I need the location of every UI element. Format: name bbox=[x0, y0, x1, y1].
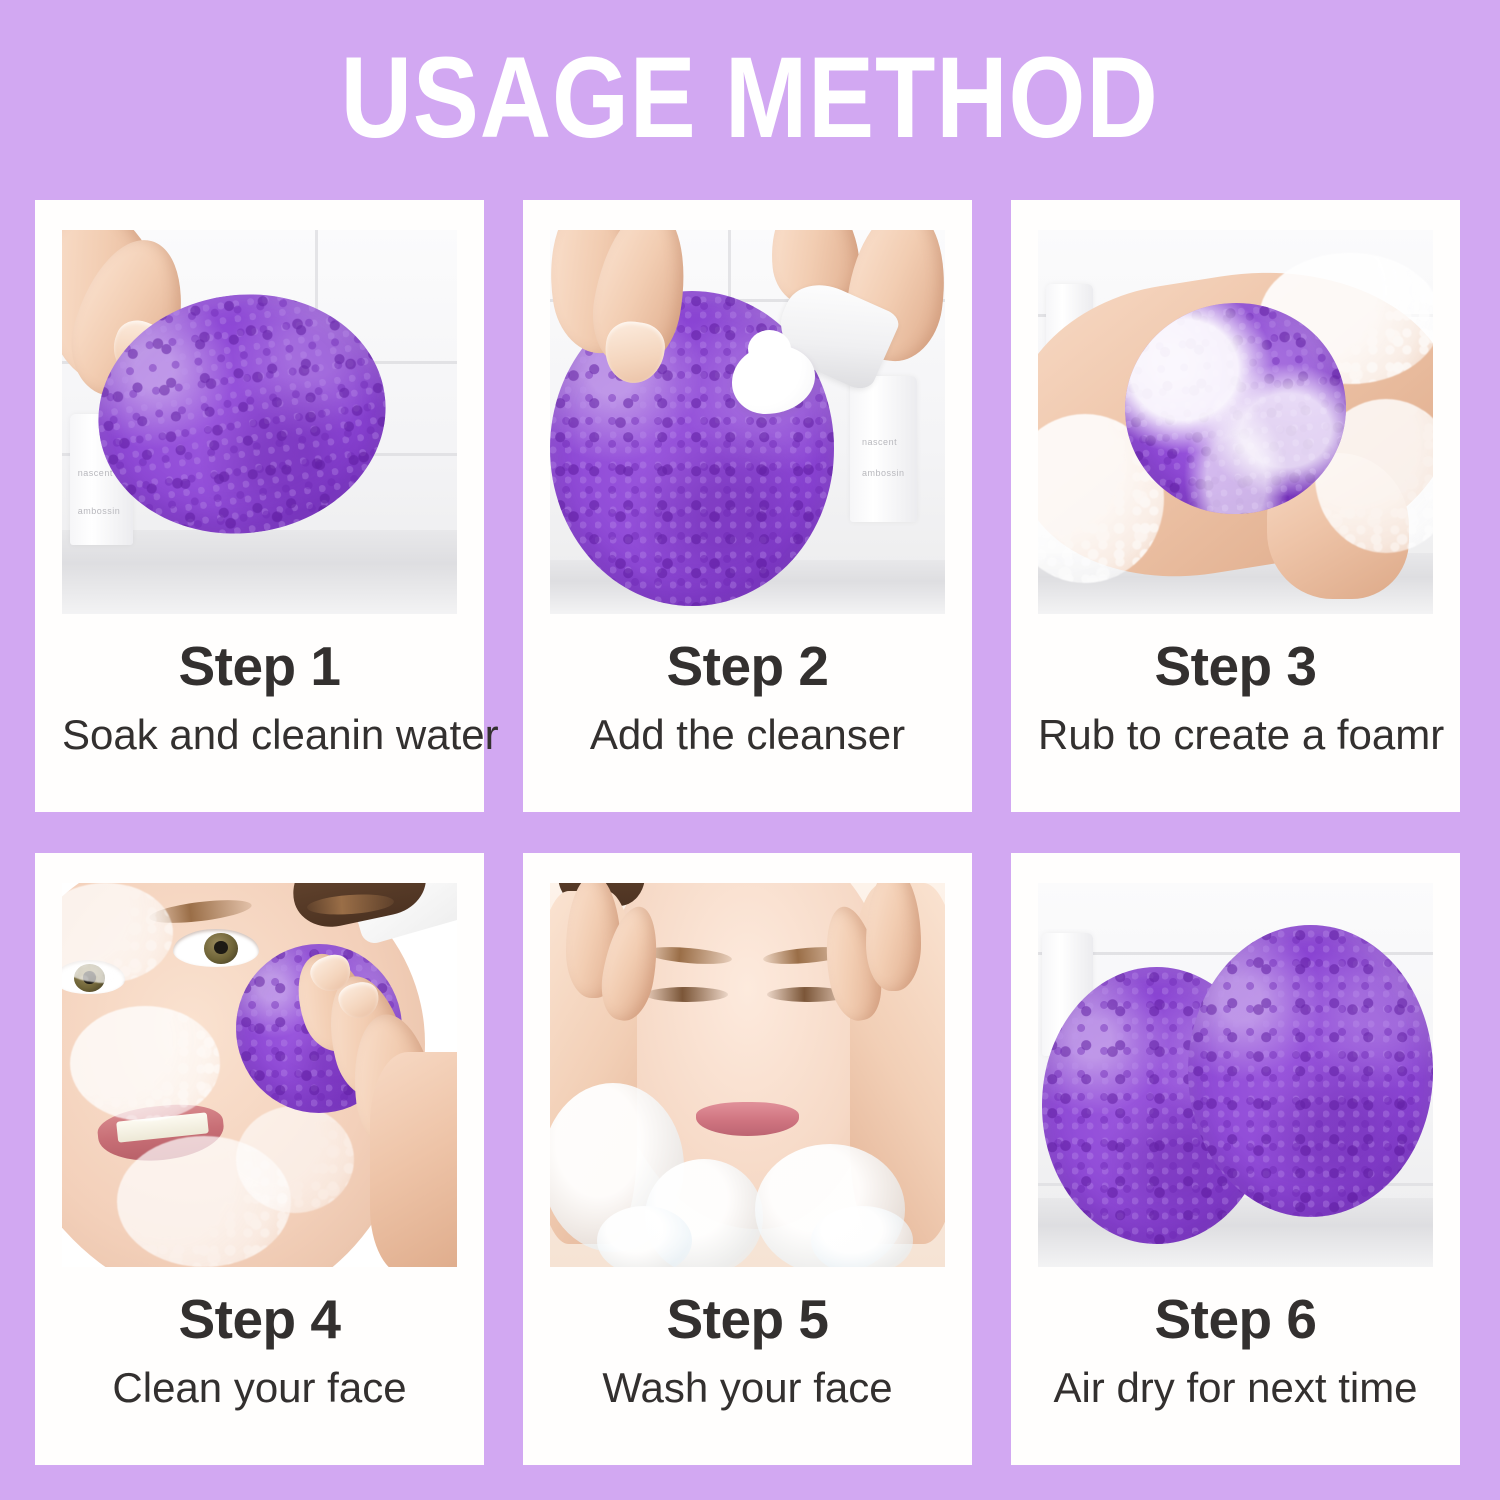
bottle-sub-label: ambossin bbox=[78, 506, 121, 516]
product-bottle bbox=[850, 376, 917, 522]
step-6-title: Step 6 bbox=[1038, 1291, 1433, 1349]
hand bbox=[370, 1052, 457, 1267]
step-1-caption: Step 1 Soak and cleanin water bbox=[62, 638, 457, 760]
step-3-photo bbox=[1038, 230, 1433, 614]
step-1-title: Step 1 bbox=[62, 638, 457, 696]
cleanser-cream-blob bbox=[748, 330, 791, 368]
step-5-title: Step 5 bbox=[550, 1291, 945, 1349]
page-title-bar: USAGE METHOD bbox=[0, 28, 1500, 168]
face-foam bbox=[70, 1006, 220, 1121]
step-card-5[interactable]: Step 5 Wash your face bbox=[523, 853, 972, 1465]
step-2-description: Add the cleanser bbox=[550, 710, 945, 760]
bottle-brand-label: nascent bbox=[862, 437, 897, 447]
infographic-page: USAGE METHOD nascent ambossin bbox=[0, 0, 1500, 1500]
step-1-description: Soak and cleanin water bbox=[62, 710, 457, 760]
step-card-2[interactable]: nascent ambossin Step 2 bbox=[523, 200, 972, 812]
steps-grid: nascent ambossin Step 1 Soak and cleanin… bbox=[35, 200, 1465, 1465]
step-3-title: Step 3 bbox=[1038, 638, 1433, 696]
bottle-sub-label: ambossin bbox=[862, 468, 905, 478]
step-4-title: Step 4 bbox=[62, 1291, 457, 1349]
step-3-caption: Step 3 Rub to create a foamr bbox=[1038, 638, 1433, 760]
bottle-brand-label: nascent bbox=[78, 468, 113, 478]
step-card-1[interactable]: nascent ambossin Step 1 Soak and cleanin… bbox=[35, 200, 484, 812]
step-1-photo: nascent ambossin bbox=[62, 230, 457, 614]
step-card-6[interactable]: Step 6 Air dry for next time bbox=[1011, 853, 1460, 1465]
step-2-caption: Step 2 Add the cleanser bbox=[550, 638, 945, 760]
step-6-caption: Step 6 Air dry for next time bbox=[1038, 1291, 1433, 1413]
page-title: USAGE METHOD bbox=[341, 41, 1159, 156]
step-6-description: Air dry for next time bbox=[1038, 1363, 1433, 1413]
step-6-photo bbox=[1038, 883, 1433, 1267]
step-2-title: Step 2 bbox=[550, 638, 945, 696]
step-5-description: Wash your face bbox=[550, 1363, 945, 1413]
step-3-description: Rub to create a foamr bbox=[1038, 710, 1433, 760]
purple-sponge-right bbox=[1188, 925, 1433, 1217]
step-2-photo: nascent ambossin bbox=[550, 230, 945, 614]
tile-seam bbox=[728, 230, 731, 299]
foam-bubbles bbox=[236, 1106, 355, 1214]
face-foam bbox=[236, 1106, 355, 1214]
sponge-pore-texture bbox=[1188, 925, 1433, 1217]
finger bbox=[866, 883, 921, 991]
step-5-caption: Step 5 Wash your face bbox=[550, 1291, 945, 1413]
step-4-description: Clean your face bbox=[62, 1363, 457, 1413]
foam-bubbles bbox=[70, 1006, 220, 1121]
step-card-4[interactable]: Step 4 Clean your face bbox=[35, 853, 484, 1465]
closed-eye bbox=[645, 987, 728, 1002]
step-4-caption: Step 4 Clean your face bbox=[62, 1291, 457, 1413]
step-card-3[interactable]: Step 3 Rub to create a foamr bbox=[1011, 200, 1460, 812]
step-4-photo bbox=[62, 883, 457, 1267]
step-5-photo bbox=[550, 883, 945, 1267]
